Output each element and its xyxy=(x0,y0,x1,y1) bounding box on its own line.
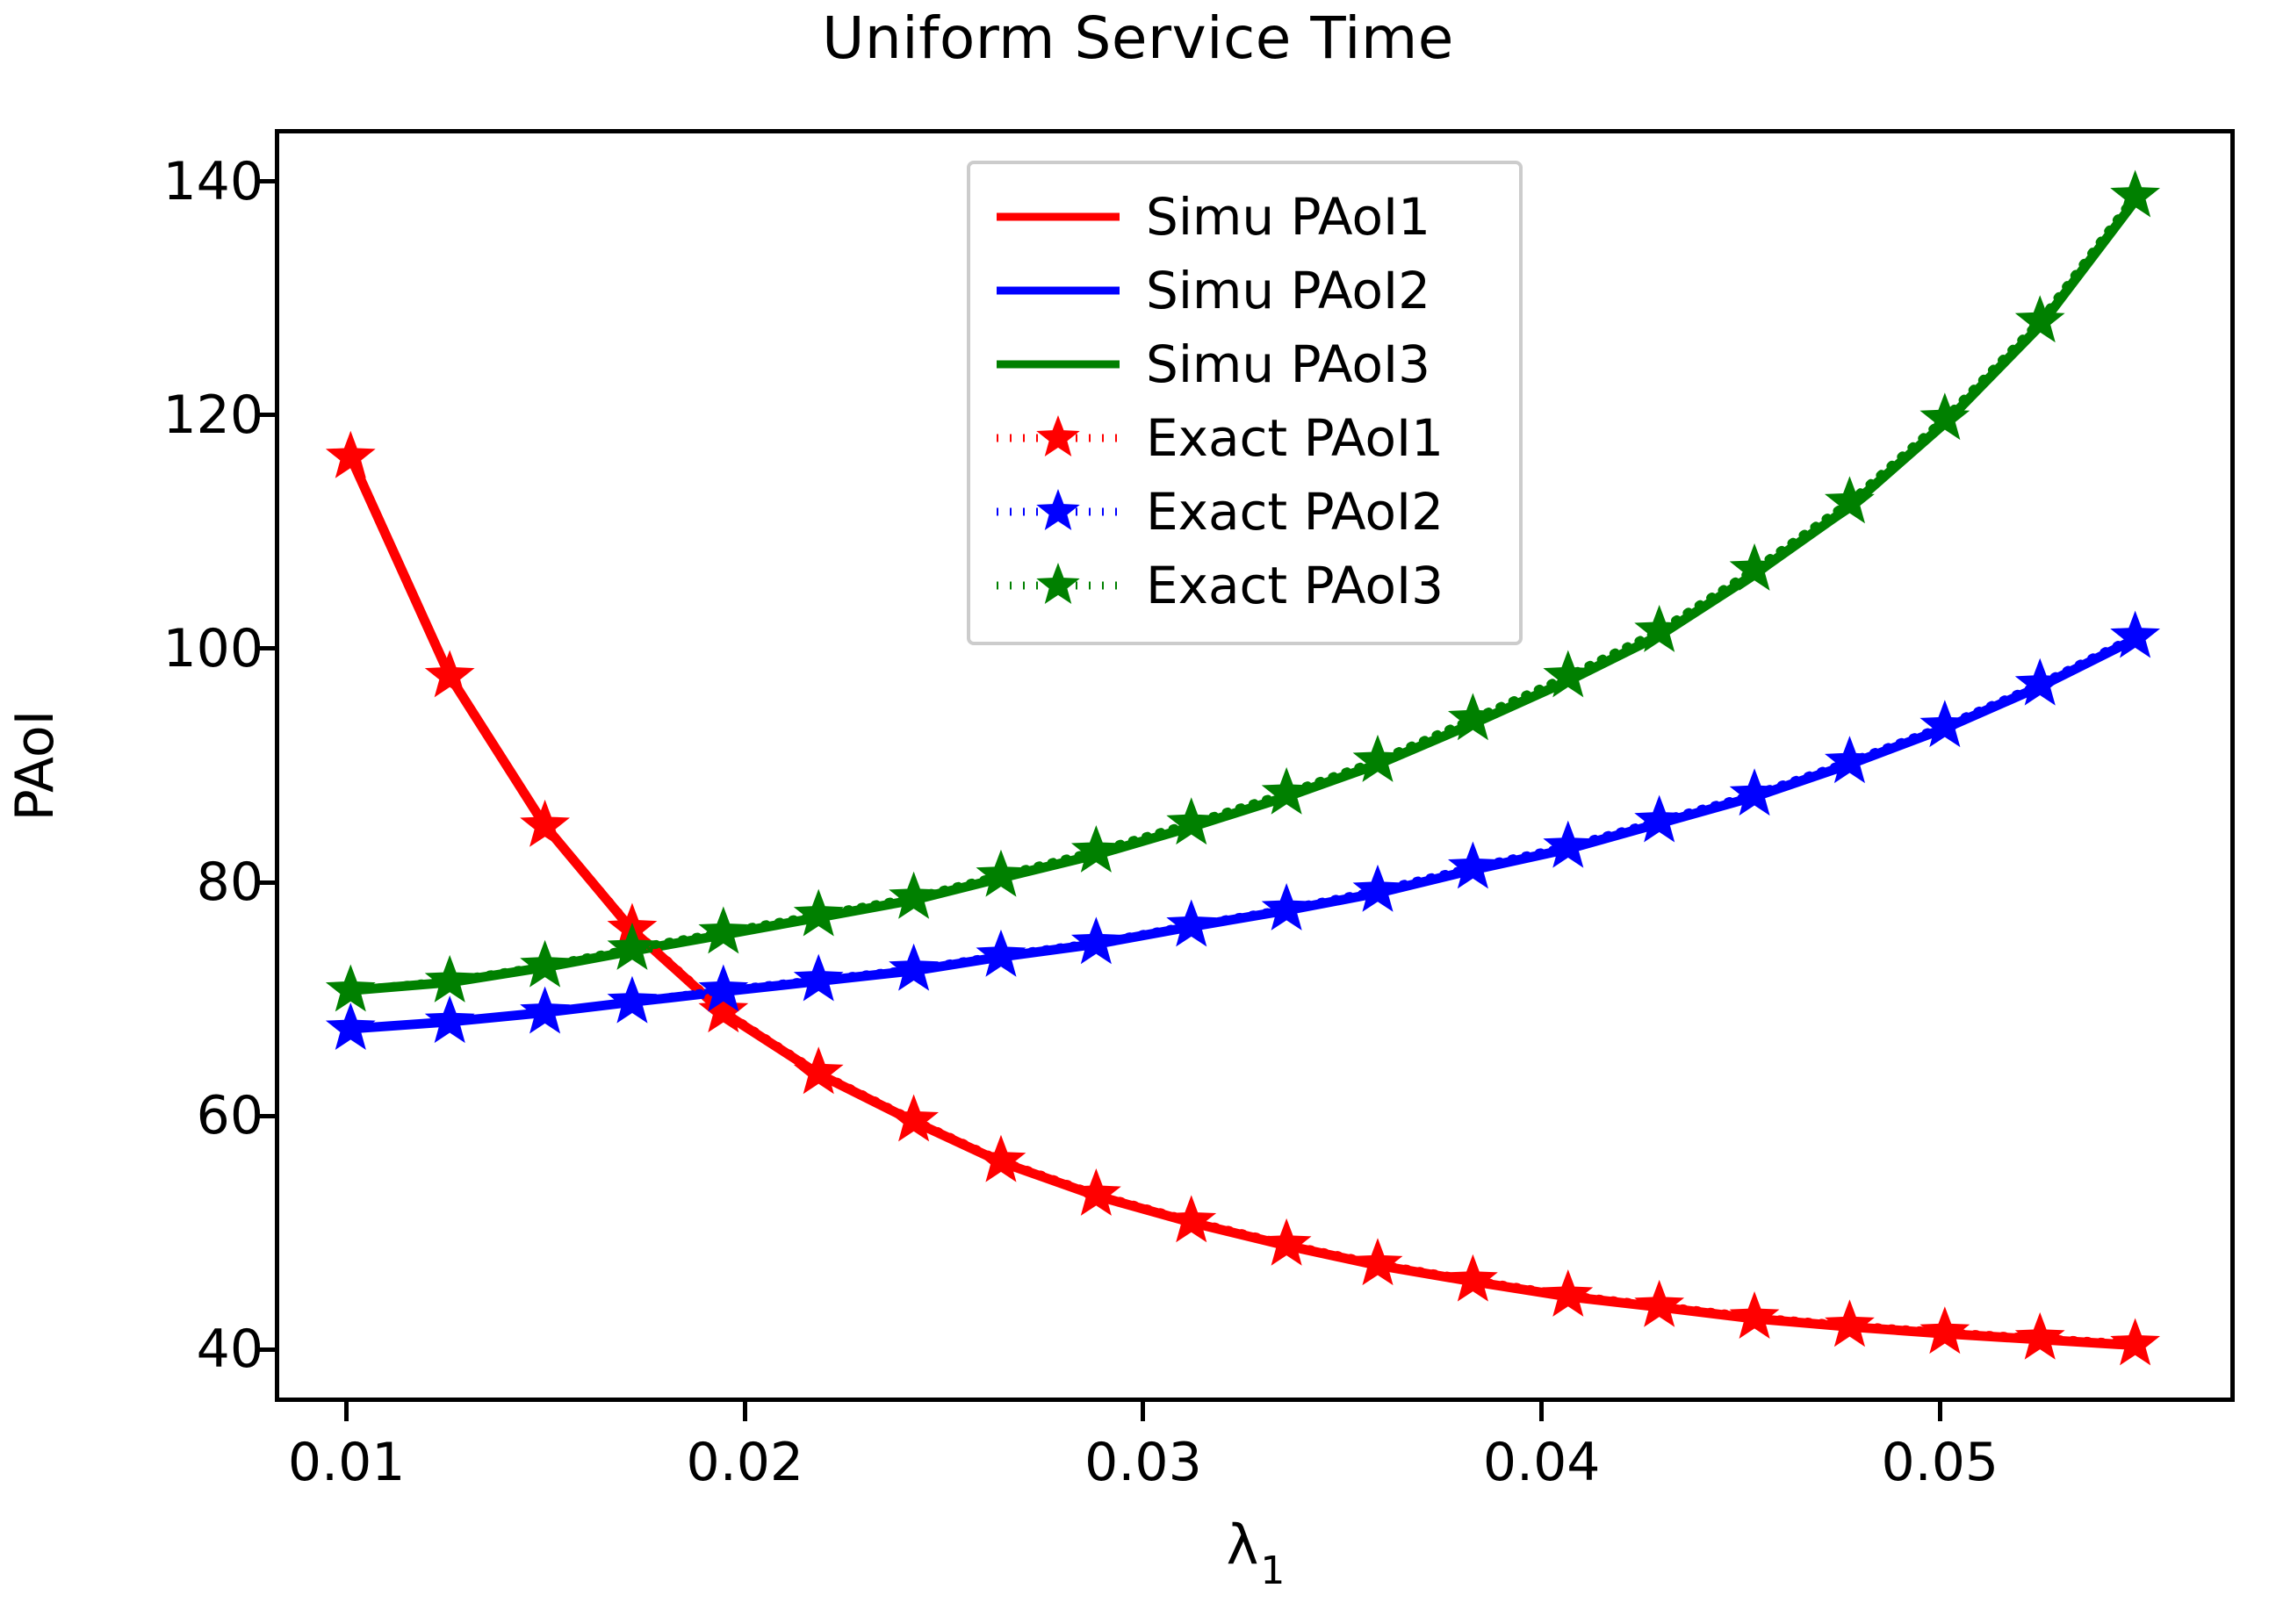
data-point-marker xyxy=(976,930,1026,977)
y-tick-label: 40 xyxy=(197,1319,263,1380)
x-tick-mark xyxy=(344,1402,349,1421)
data-point-marker xyxy=(889,872,939,919)
data-point-marker xyxy=(1353,865,1403,912)
series-markers-5 xyxy=(326,611,2160,1050)
data-point-marker xyxy=(1730,1291,1780,1339)
chart-legend: Simu PAoI1Simu PAoI2Simu PAoI3Exact PAoI… xyxy=(967,161,1523,645)
data-point-marker xyxy=(1071,916,1121,964)
data-point-marker xyxy=(976,850,1026,897)
data-point-marker xyxy=(1166,900,1216,947)
data-point-marker xyxy=(2110,170,2160,218)
x-tick-mark xyxy=(743,1402,747,1421)
chart-title: Uniform Service Time xyxy=(0,7,2276,71)
legend-swatch-icon xyxy=(993,264,1123,317)
legend-item-label: Exact PAoI2 xyxy=(1146,486,1444,537)
data-point-marker xyxy=(1448,841,1498,888)
data-point-marker xyxy=(1730,768,1780,816)
x-tick-mark xyxy=(1141,1402,1145,1421)
legend-item-5[interactable]: Exact PAoI2 xyxy=(993,475,1496,549)
data-point-marker xyxy=(1262,767,1312,815)
x-tick-label: 0.04 xyxy=(1483,1432,1601,1493)
legend-item-3[interactable]: Simu PAoI3 xyxy=(993,327,1496,401)
y-tick-label: 100 xyxy=(162,618,263,679)
data-point-marker xyxy=(425,650,475,697)
legend-item-label: Exact PAoI3 xyxy=(1146,560,1444,611)
legend-swatch-icon xyxy=(993,412,1123,464)
data-point-marker xyxy=(794,889,844,937)
data-point-marker xyxy=(1071,1168,1121,1216)
data-point-marker xyxy=(326,431,376,478)
data-point-marker xyxy=(1634,795,1684,843)
data-point-marker xyxy=(425,995,475,1043)
data-point-marker xyxy=(2015,1312,2065,1360)
data-point-marker xyxy=(425,955,475,1002)
legend-swatch-icon xyxy=(993,190,1123,243)
data-point-marker xyxy=(698,906,748,953)
chart-figure: Uniform Service Time 406080100120140 0.0… xyxy=(0,0,2276,1624)
data-point-marker xyxy=(1448,1254,1498,1302)
data-point-marker xyxy=(520,987,570,1034)
data-point-marker xyxy=(2110,1318,2160,1365)
y-axis-label: PAoI xyxy=(4,710,66,822)
data-point-marker xyxy=(1262,883,1312,931)
data-point-marker xyxy=(1825,736,1875,783)
legend-swatch-icon xyxy=(993,485,1123,538)
legend-swatch-icon xyxy=(993,559,1123,612)
data-point-marker xyxy=(1919,700,1970,747)
legend-item-4[interactable]: Exact PAoI1 xyxy=(993,401,1496,475)
legend-item-6[interactable]: Exact PAoI3 xyxy=(993,549,1496,622)
data-point-marker xyxy=(608,976,658,1024)
data-point-marker xyxy=(1166,797,1216,844)
y-tick-label: 80 xyxy=(197,852,263,913)
legend-item-2[interactable]: Simu PAoI2 xyxy=(993,254,1496,327)
legend-item-label: Simu PAoI2 xyxy=(1146,265,1430,316)
data-point-marker xyxy=(1825,1299,1875,1347)
data-point-marker xyxy=(326,1002,376,1050)
data-point-marker xyxy=(889,944,939,991)
x-tick-label: 0.01 xyxy=(288,1432,406,1493)
x-tick-mark xyxy=(1938,1402,1942,1421)
x-tick-mark xyxy=(1539,1402,1544,1421)
data-point-marker xyxy=(1543,821,1593,868)
legend-item-1[interactable]: Simu PAoI1 xyxy=(993,180,1496,254)
data-point-marker xyxy=(976,1135,1026,1182)
data-point-marker xyxy=(1071,825,1121,873)
data-point-marker xyxy=(1166,1195,1216,1242)
legend-item-label: Simu PAoI3 xyxy=(1146,339,1430,390)
data-point-marker xyxy=(1634,1280,1684,1327)
x-axis-label-subscript: 1 xyxy=(1260,1549,1285,1593)
x-tick-label: 0.02 xyxy=(687,1432,804,1493)
x-axis-label: λ1 xyxy=(1227,1513,1284,1584)
data-point-marker xyxy=(1919,1306,1970,1354)
y-tick-label: 120 xyxy=(162,384,263,446)
data-point-marker xyxy=(1262,1218,1312,1266)
legend-swatch-icon xyxy=(993,338,1123,391)
x-tick-label: 0.05 xyxy=(1881,1432,1999,1493)
legend-item-label: Exact PAoI1 xyxy=(1146,413,1444,463)
legend-item-label: Simu PAoI1 xyxy=(1146,191,1430,242)
series-line-2 xyxy=(350,639,2135,1029)
series-line-5 xyxy=(350,636,2135,1029)
data-point-marker xyxy=(1353,1238,1403,1285)
data-point-marker xyxy=(608,923,658,970)
data-point-marker xyxy=(794,954,844,1002)
x-tick-label: 0.03 xyxy=(1084,1432,1202,1493)
data-point-marker xyxy=(520,940,570,988)
y-tick-label: 140 xyxy=(162,151,263,212)
x-axis-label-symbol: λ xyxy=(1227,1513,1259,1577)
y-tick-label: 60 xyxy=(197,1085,263,1146)
data-point-marker xyxy=(1543,1269,1593,1317)
